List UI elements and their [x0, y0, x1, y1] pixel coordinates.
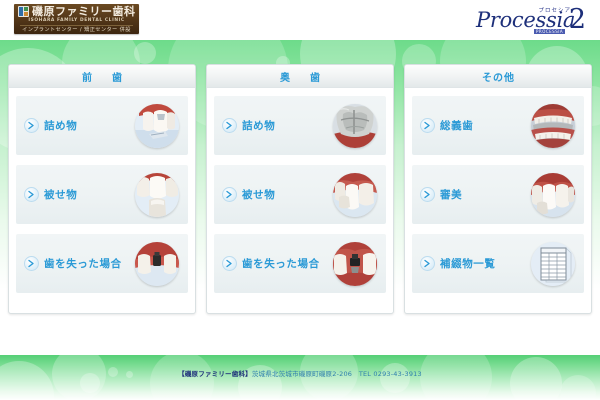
chevron-right-icon — [222, 256, 237, 271]
chevron-right-icon — [420, 187, 435, 202]
clinic-emblem-icon — [18, 6, 29, 17]
panel-molar-teeth: 奥 歯 詰め物 — [206, 64, 394, 314]
panel-title: その他 — [481, 69, 515, 84]
footer-address: 茨城県北茨城市磯原町磯原2-206 TEL 0293-43-3913 — [252, 370, 422, 378]
decorative-bubble — [134, 42, 156, 64]
panel-body-other: 総義歯 — [405, 88, 591, 313]
footer-clinic-name: 【磯原ファミリー歯科】 — [178, 370, 252, 378]
chevron-right-icon — [420, 256, 435, 271]
clinic-logo-row: 磯原ファミリー歯科 — [14, 5, 139, 18]
molar-missing-tooth-thumb — [333, 242, 377, 286]
menu-item-label: 詰め物 — [242, 118, 275, 133]
panel-title: 奥 歯 — [275, 69, 325, 84]
decorative-bubble — [560, 375, 596, 400]
chevron-right-icon — [222, 118, 237, 133]
menu-item-prosthetics-list[interactable]: 補綴物一覧 — [412, 234, 584, 293]
menu-item-front-missing-tooth[interactable]: 歯を失った場合 — [16, 234, 188, 293]
menu-item-label: 被せ物 — [44, 187, 77, 202]
menu-item-label: 総義歯 — [440, 118, 473, 133]
panel-other: その他 総義歯 — [404, 64, 592, 314]
front-missing-tooth-thumb — [135, 242, 179, 286]
footer-contact-line: 【磯原ファミリー歯科】茨城県北茨城市磯原町磯原2-206 TEL 0293-43… — [0, 368, 600, 378]
decorative-bubble — [0, 361, 54, 400]
chevron-right-icon — [222, 187, 237, 202]
panel-header-molar-teeth: 奥 歯 — [207, 65, 393, 88]
menu-item-front-crown[interactable]: 被せ物 — [16, 165, 188, 224]
menu-item-label: 歯を失った場合 — [44, 256, 122, 271]
decorative-bubble — [510, 357, 562, 400]
menu-item-label: 歯を失った場合 — [242, 256, 320, 271]
chevron-right-icon — [24, 118, 39, 133]
molar-inlay-thumb — [333, 104, 377, 148]
clinic-name: 磯原ファミリー歯科 — [32, 6, 136, 18]
footer-band: 【磯原ファミリー歯科】茨城県北茨城市磯原町磯原2-206 TEL 0293-43… — [0, 355, 600, 400]
processia-version: 2 — [569, 6, 586, 34]
molar-crown-thumb — [333, 173, 377, 217]
chevron-right-icon — [24, 187, 39, 202]
panel-front-teeth: 前 歯 詰め物 — [8, 64, 196, 314]
menu-item-label: 詰め物 — [44, 118, 77, 133]
menu-item-full-denture[interactable]: 総義歯 — [412, 96, 584, 155]
category-columns: 前 歯 詰め物 — [0, 64, 600, 314]
menu-item-label: 審美 — [440, 187, 462, 202]
panel-body-molar-teeth: 詰め物 — [207, 88, 393, 313]
processia-logo: プロセシア Processia PROCESSIA 2 — [470, 2, 588, 38]
front-crown-thumb — [135, 173, 179, 217]
menu-item-molar-inlay[interactable]: 詰め物 — [214, 96, 386, 155]
menu-item-molar-crown[interactable]: 被せ物 — [214, 165, 386, 224]
full-denture-thumb — [531, 104, 575, 148]
front-inlay-thumb — [135, 104, 179, 148]
menu-item-molar-missing-tooth[interactable]: 歯を失った場合 — [214, 234, 386, 293]
panel-header-front-teeth: 前 歯 — [9, 65, 195, 88]
menu-item-label: 補綴物一覧 — [440, 256, 496, 271]
processia-trademark: PROCESSIA — [534, 29, 565, 34]
panel-header-other: その他 — [405, 65, 591, 88]
prosthetics-list-thumb — [531, 242, 575, 286]
menu-item-label: 被せ物 — [242, 187, 275, 202]
chevron-right-icon — [420, 118, 435, 133]
panel-body-front-teeth: 詰め物 — [9, 88, 195, 313]
header-bar: 磯原ファミリー歯科 ISOHARA FAMILY DENTAL CLINIC イ… — [0, 0, 600, 40]
panel-title: 前 歯 — [77, 69, 127, 84]
menu-item-front-inlay[interactable]: 詰め物 — [16, 96, 188, 155]
menu-item-aesthetic[interactable]: 審美 — [412, 165, 584, 224]
aesthetic-thumb — [531, 173, 575, 217]
clinic-name-english: ISOHARA FAMILY DENTAL CLINIC — [14, 18, 139, 24]
chevron-right-icon — [24, 256, 39, 271]
clinic-logo[interactable]: 磯原ファミリー歯科 ISOHARA FAMILY DENTAL CLINIC イ… — [14, 4, 139, 34]
clinic-subtitle: インプラントセンター / 矯正センター 併設 — [20, 25, 133, 34]
processia-wordmark: Processia — [476, 9, 575, 31]
application-root: 【磯原ファミリー歯科】茨城県北茨城市磯原町磯原2-206 TEL 0293-43… — [0, 0, 600, 400]
